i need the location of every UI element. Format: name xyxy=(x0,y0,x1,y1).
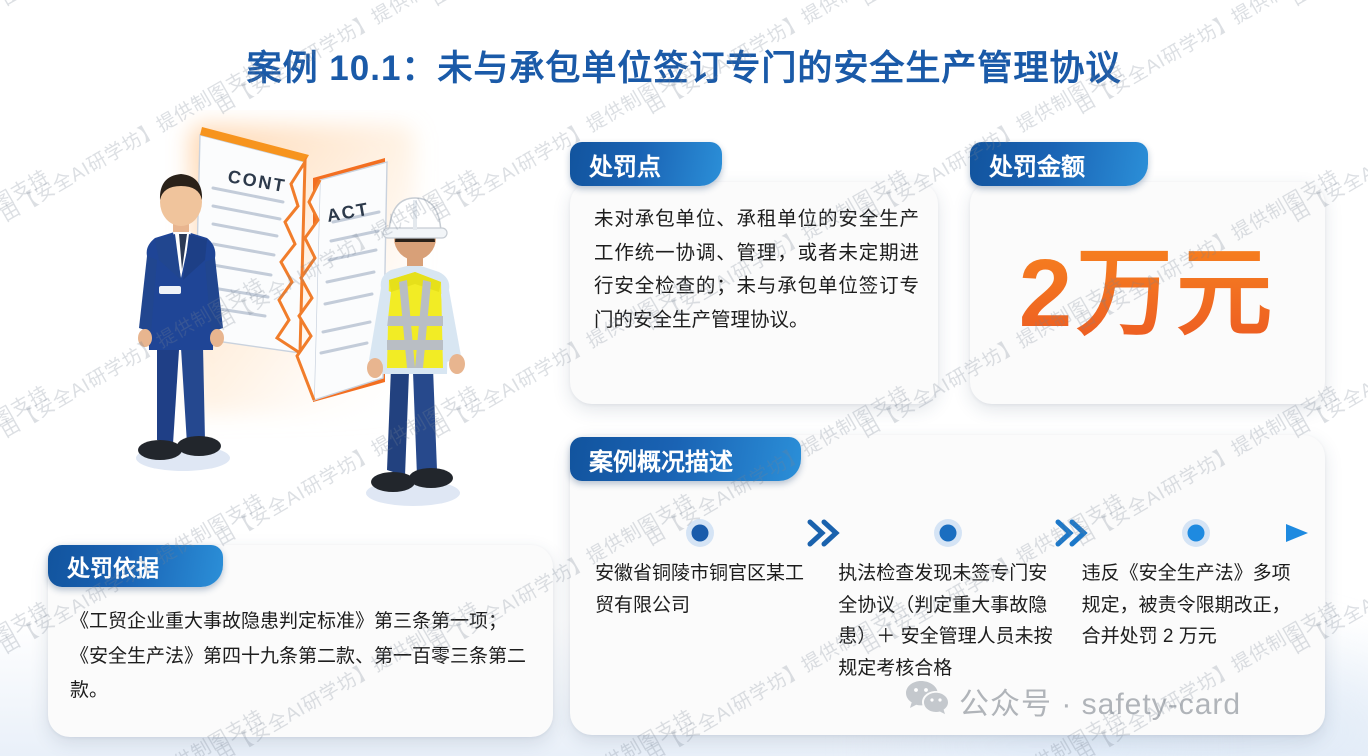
penalty-basis-body: 《工贸企业重大事故隐患判定标准》第三条第一项；《安全生产法》第四十九条第二款、第… xyxy=(70,605,535,709)
case-illustration: CONT ACT xyxy=(95,110,545,540)
punishment-point-body: 未对承包单位、承租单位的安全生产工作统一协调、管理，或者未定期进行安全检查的；未… xyxy=(594,203,919,337)
case-step: 安徽省铜陵市铜官区某工贸有限公司 xyxy=(595,558,838,718)
wechat-label: 公众号 · safety-card xyxy=(959,679,1241,723)
watermark-text: 由【安全AI研学坊】提供制图支持 xyxy=(855,0,1128,11)
watermark-text: 由【安全AI研学坊】提供制图支持 xyxy=(0,594,53,756)
timeline-node-2 xyxy=(934,519,962,547)
penalty-amount-badge-label: 处罚金额 xyxy=(985,147,1085,182)
timeline-arrow-head xyxy=(1286,524,1308,542)
watermark-text: 由【安全AI研学坊】提供制图支持 xyxy=(0,378,53,551)
wechat-icon xyxy=(905,678,949,724)
penalty-basis-badge-label: 处罚依据 xyxy=(63,549,159,583)
slide-canvas: 案例 10.1：未与承包单位签订专门的安全生产管理协议 xyxy=(0,0,1368,756)
watermark-text: 由【安全AI研学坊】提供制图支持 xyxy=(1285,0,1368,11)
wechat-footer: 公众号 · safety-card xyxy=(905,678,1241,724)
watermark-text: 由【安全AI研学坊】提供制图支持 xyxy=(0,162,53,335)
punishment-point-badge-label: 处罚点 xyxy=(585,147,661,182)
timeline-node-1 xyxy=(686,519,714,547)
penalty-basis-badge: 处罚依据 xyxy=(48,545,223,587)
page-title: 案例 10.1：未与承包单位签订专门的安全生产管理协议 xyxy=(0,40,1368,91)
case-overview-badge: 案例概况描述 xyxy=(570,437,801,481)
case-overview-badge-label: 案例概况描述 xyxy=(585,442,733,477)
penalty-amount-value: 2万元 xyxy=(970,215,1325,354)
timeline-node-3 xyxy=(1182,519,1210,547)
watermark-text: 由【安全AI研学坊】提供制图支持 xyxy=(0,0,268,11)
punishment-point-badge: 处罚点 xyxy=(570,142,722,186)
watermark-text: 由【安全AI研学坊】提供制图支持 xyxy=(425,0,698,11)
case-timeline xyxy=(588,518,1310,548)
penalty-amount-badge: 处罚金额 xyxy=(970,142,1148,186)
